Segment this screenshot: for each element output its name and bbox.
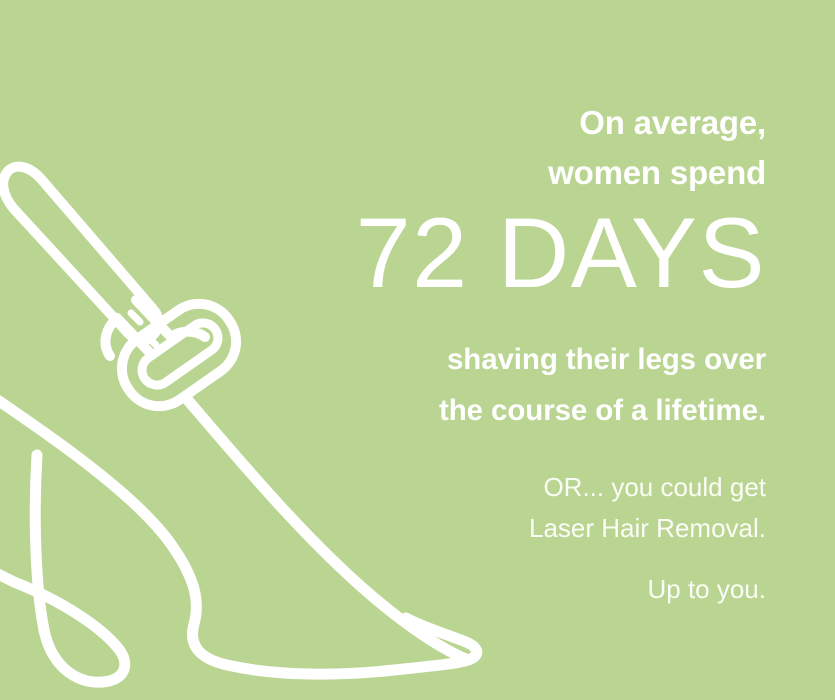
razor-neck-2 xyxy=(136,300,172,338)
outro-text: Up to you. xyxy=(647,571,766,607)
razor-handle-outline xyxy=(3,167,158,341)
lede-text: On average, women spend xyxy=(548,98,766,198)
far-leg-outline xyxy=(0,455,125,682)
copy-block: On average, women spend 72 DAYS shaving … xyxy=(206,0,766,700)
alternative-line-1: OR... you could get xyxy=(529,467,766,508)
razor-ridge-mark-1 xyxy=(131,313,140,322)
razor-neck xyxy=(117,318,152,355)
lede-line-1: On average, xyxy=(548,98,766,148)
headline-statistic: 72 DAYS xyxy=(356,201,766,305)
promo-poster: On average, women spend 72 DAYS shaving … xyxy=(0,0,835,700)
alternative-text: OR... you could get Laser Hair Removal. xyxy=(529,467,766,549)
lede-line-2: women spend xyxy=(548,148,766,198)
kicker-text: shaving their legs over the course of a … xyxy=(439,334,766,436)
razor-collar-2 xyxy=(176,332,205,337)
alternative-line-2: Laser Hair Removal. xyxy=(529,508,766,549)
kicker-line-1: shaving their legs over xyxy=(439,334,766,385)
kicker-line-2: the course of a lifetime. xyxy=(439,385,766,436)
razor-collar xyxy=(105,322,113,356)
razor-ridge-mark-2 xyxy=(145,334,156,345)
